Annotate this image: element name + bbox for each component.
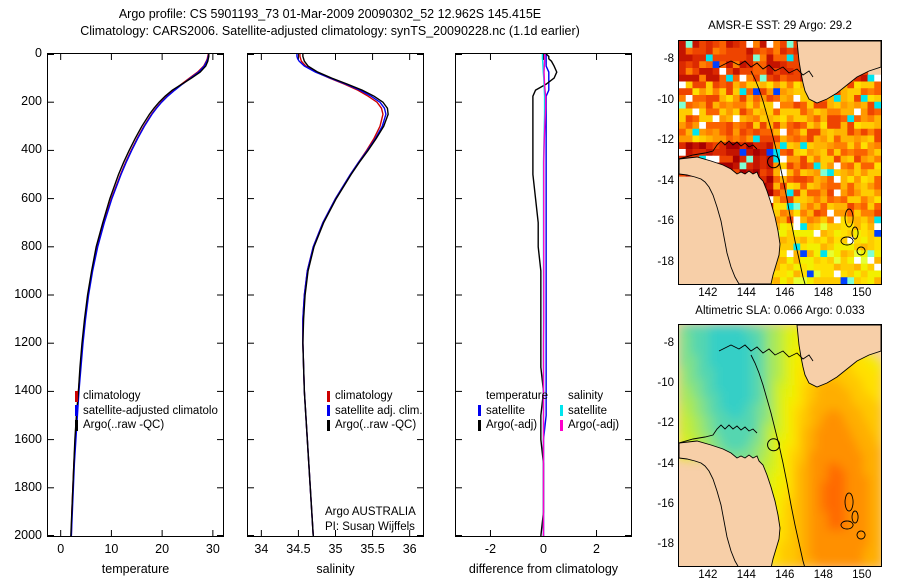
sla-map-title: Altimetric SLA: 0.066 Argo: 0.033 xyxy=(660,305,900,317)
legend-swatch-blank xyxy=(478,391,481,402)
legend-label: satellite-adjusted climatolo xyxy=(83,404,218,419)
map-latitude-tick: -16 xyxy=(650,498,674,510)
depth-tick-label: 0 xyxy=(0,46,42,60)
legend-swatch-temperature-argo xyxy=(478,420,481,431)
axis-tick-label: 10 xyxy=(85,542,137,556)
difference-plot-area xyxy=(456,54,631,536)
legend-item: satellite-adjusted climatolo xyxy=(75,404,245,419)
legend-swatch-satellite xyxy=(327,405,330,416)
salinity-satellite-line xyxy=(297,54,386,536)
legend-label: temperature xyxy=(486,389,548,404)
temperature-plot-area xyxy=(48,54,223,536)
salinity-climatology-line xyxy=(300,54,383,536)
map-longitude-tick: 150 xyxy=(842,287,882,299)
map-latitude-tick: -8 xyxy=(650,337,674,349)
map-latitude-tick: -10 xyxy=(650,377,674,389)
difference-legend-salinity: salinity satellite Argo(-adj) xyxy=(560,389,619,433)
axis-tick-label: 36 xyxy=(384,542,436,556)
legend-item: satellite xyxy=(478,404,548,419)
legend-swatch-temperature-satellite xyxy=(478,405,481,416)
salinity-axis-label: salinity xyxy=(247,562,424,576)
map-longitude-tick: 142 xyxy=(688,569,728,581)
legend-label: Argo(..raw -QC) xyxy=(335,418,416,433)
map-latitude-tick: -16 xyxy=(650,215,674,227)
sla-map-canvas xyxy=(679,325,881,566)
salinity-argo-line xyxy=(303,54,388,536)
axis-tick-label: 30 xyxy=(187,542,239,556)
argo-credit: Argo AUSTRALIA PI: Susan Wijffels xyxy=(325,505,416,534)
difference-axis-label: difference from climatology xyxy=(455,562,632,576)
map-latitude-tick: -12 xyxy=(650,417,674,429)
temperature-legend: climatology satellite-adjusted climatolo… xyxy=(75,389,245,433)
legend-label: climatology xyxy=(335,389,393,404)
sst-map-canvas xyxy=(679,41,881,284)
sst-map[interactable] xyxy=(678,40,882,285)
title-line-1: Argo profile: CS 5901193_73 01-Mar-2009 … xyxy=(0,6,660,23)
temperature-climatology-line xyxy=(71,54,208,536)
map-latitude-tick: -14 xyxy=(650,458,674,470)
temperature-axis-label: temperature xyxy=(47,562,224,576)
map-longitude-tick: 146 xyxy=(765,569,805,581)
axis-tick-label: 0 xyxy=(518,542,570,556)
credit-line-1: Argo AUSTRALIA xyxy=(325,505,416,520)
axis-tick-label: 0 xyxy=(35,542,87,556)
legend-swatch-climatology xyxy=(75,391,78,402)
difference-legend-temperature: temperature satellite Argo(-adj) xyxy=(478,389,548,433)
salinity-plot-area xyxy=(248,54,423,536)
sst-map-title: AMSR-E SST: 29 Argo: 29.2 xyxy=(660,20,900,32)
map-latitude-tick: -8 xyxy=(650,53,674,65)
figure-title: Argo profile: CS 5901193_73 01-Mar-2009 … xyxy=(0,6,660,40)
depth-tick-label: 1000 xyxy=(0,287,42,301)
difference-profile-panel[interactable] xyxy=(455,53,632,537)
legend-swatch-climatology xyxy=(327,391,330,402)
depth-tick-label: 200 xyxy=(0,94,42,108)
map-latitude-tick: -18 xyxy=(650,256,674,268)
legend-label: salinity xyxy=(568,389,603,404)
sla-map[interactable] xyxy=(678,324,882,567)
map-longitude-tick: 148 xyxy=(803,287,843,299)
legend-label: satellite adj. clim. xyxy=(335,404,423,419)
map-longitude-tick: 144 xyxy=(726,287,766,299)
map-longitude-tick: 142 xyxy=(688,287,728,299)
legend-item: Argo(..raw -QC) xyxy=(75,418,245,433)
temperature-profile-panel[interactable] xyxy=(47,53,224,537)
legend-header: temperature xyxy=(478,389,548,404)
temperature-argo-line xyxy=(71,54,209,536)
legend-item: Argo(-adj) xyxy=(478,418,548,433)
temperature-satellite-line xyxy=(71,54,208,536)
depth-tick-label: 400 xyxy=(0,142,42,156)
legend-label: Argo(-adj) xyxy=(486,418,537,433)
legend-label: Argo(..raw -QC) xyxy=(83,418,164,433)
depth-tick-label: 600 xyxy=(0,191,42,205)
depth-tick-label: 800 xyxy=(0,239,42,253)
legend-swatch-argo xyxy=(75,420,78,431)
credit-line-2: PI: Susan Wijffels xyxy=(325,520,416,535)
title-line-2: Climatology: CARS2006. Satellite-adjuste… xyxy=(0,23,660,40)
depth-tick-label: 1200 xyxy=(0,335,42,349)
axis-tick-label: 20 xyxy=(136,542,188,556)
legend-label: satellite xyxy=(568,404,607,419)
legend-label: Argo(-adj) xyxy=(568,418,619,433)
axis-tick-label: 2 xyxy=(571,542,623,556)
legend-swatch-blank xyxy=(560,391,563,402)
legend-swatch-argo xyxy=(327,420,330,431)
legend-label: satellite xyxy=(486,404,525,419)
depth-tick-label: 2000 xyxy=(0,528,42,542)
map-longitude-tick: 150 xyxy=(842,569,882,581)
map-latitude-tick: -10 xyxy=(650,94,674,106)
axis-tick-label: -2 xyxy=(464,542,516,556)
legend-item: climatology xyxy=(75,389,245,404)
legend-item: satellite xyxy=(560,404,619,419)
map-latitude-tick: -18 xyxy=(650,538,674,550)
legend-label: climatology xyxy=(83,389,141,404)
legend-swatch-salinity-satellite xyxy=(560,405,563,416)
legend-item: Argo(-adj) xyxy=(560,418,619,433)
legend-swatch-satellite xyxy=(75,405,78,416)
map-latitude-tick: -14 xyxy=(650,175,674,187)
depth-tick-label: 1400 xyxy=(0,383,42,397)
map-latitude-tick: -12 xyxy=(650,134,674,146)
map-longitude-tick: 146 xyxy=(765,287,805,299)
map-longitude-tick: 144 xyxy=(726,569,766,581)
legend-swatch-salinity-argo xyxy=(560,420,563,431)
depth-tick-label: 1800 xyxy=(0,480,42,494)
map-longitude-tick: 148 xyxy=(803,569,843,581)
legend-header: salinity xyxy=(560,389,619,404)
depth-tick-label: 1600 xyxy=(0,432,42,446)
salinity-profile-panel[interactable] xyxy=(247,53,424,537)
